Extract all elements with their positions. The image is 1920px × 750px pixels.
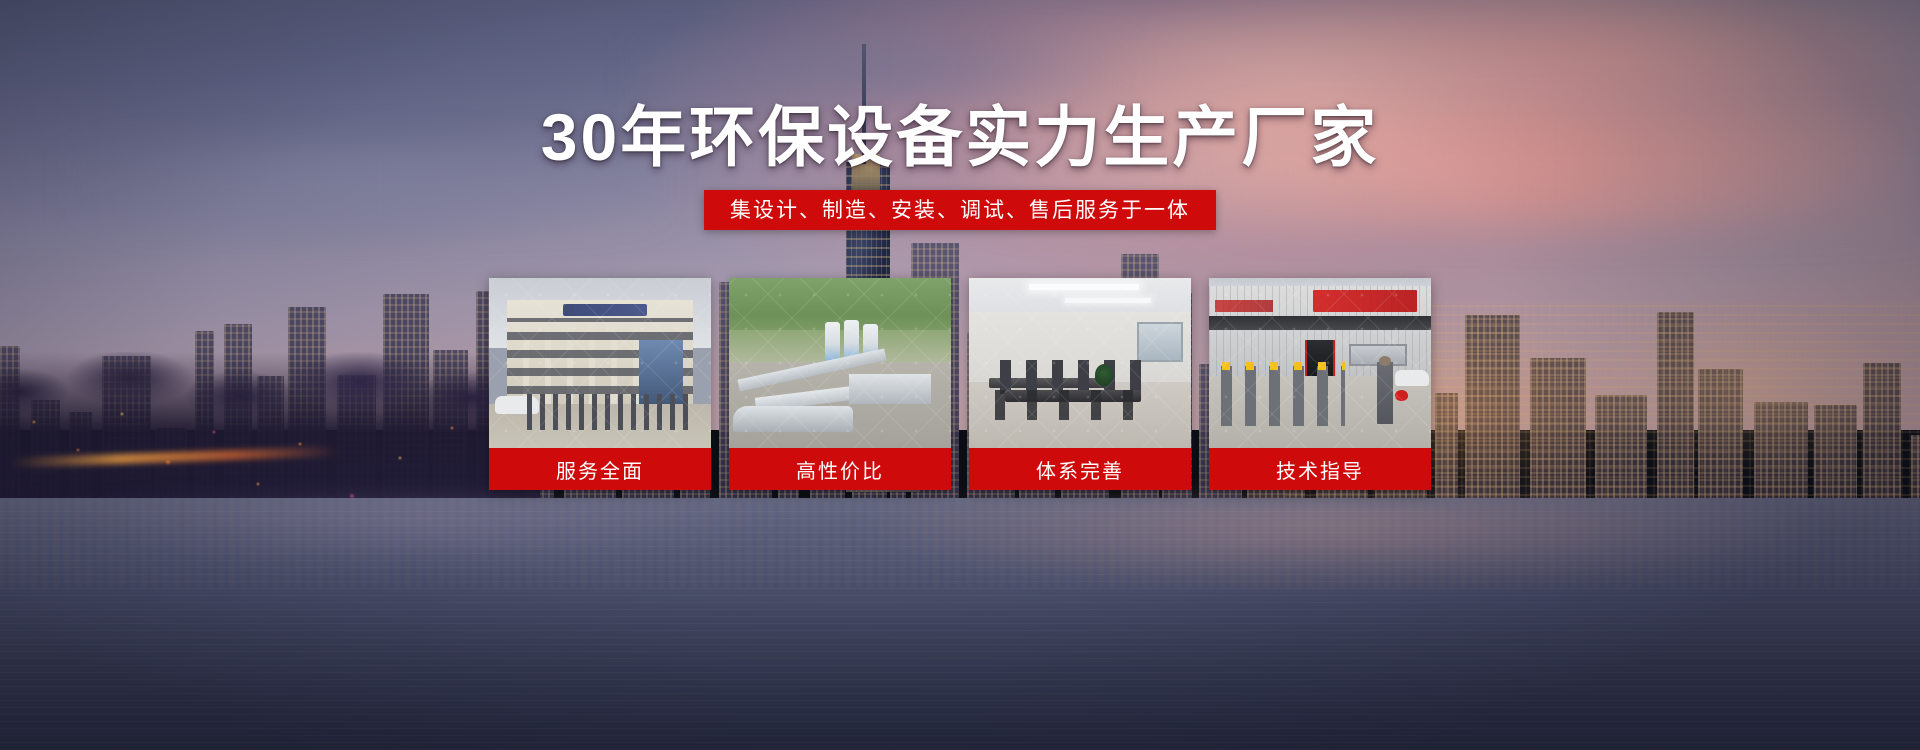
banner-subtitle-text: 集设计、制造、安装、调试、售后服务于一体 (730, 200, 1190, 221)
office-building-and-staff-photo (489, 278, 711, 448)
feature-card-caption: 技术指导 (1209, 448, 1431, 490)
feature-card-caption: 高性价比 (729, 448, 951, 490)
aerial-factory-plant-photo (729, 278, 951, 448)
banner-content: 30年环保设备实力生产厂家 集设计、制造、安装、调试、售后服务于一体 (0, 0, 1920, 750)
photo3-ceiling-light (1029, 284, 1139, 290)
photo3-potted-plant (1095, 364, 1113, 386)
photo4-instructor (1377, 362, 1393, 424)
feature-card[interactable]: 服务全面 (489, 278, 711, 490)
photo4-red-signage-small (1215, 300, 1273, 312)
photo2-warehouse (849, 374, 931, 404)
photo4-car (1395, 370, 1429, 386)
photo2-silo (825, 322, 840, 362)
feature-card-caption: 体系完善 (969, 448, 1191, 490)
workers-training-factory-photo (1209, 278, 1431, 448)
photo2-warehouse (733, 406, 853, 432)
photo4-yellow-hardhats (1215, 362, 1345, 370)
photo4-worker-line (1215, 366, 1345, 426)
feature-card-row: 服务全面 高性价比 (489, 278, 1431, 490)
photo1-company-signage (563, 304, 647, 316)
office-interior-meeting-photo (969, 278, 1191, 448)
photo4-red-helmet (1395, 390, 1408, 401)
banner-headline: 30年环保设备实力生产厂家 (0, 104, 1920, 170)
photo1-staff-line (523, 394, 693, 430)
feature-card[interactable]: 技术指导 (1209, 278, 1431, 490)
hero-banner: 30年环保设备实力生产厂家 集设计、制造、安装、调试、售后服务于一体 (0, 0, 1920, 750)
banner-subtitle-bar: 集设计、制造、安装、调试、售后服务于一体 (704, 190, 1216, 230)
photo3-ceiling-light (1065, 298, 1151, 303)
photo4-instructor-head (1379, 356, 1391, 366)
photo4-window-band (1209, 316, 1431, 330)
photo4-red-signage (1313, 290, 1417, 312)
photo3-employees (991, 360, 1147, 394)
feature-card[interactable]: 体系完善 (969, 278, 1191, 490)
feature-card-caption: 服务全面 (489, 448, 711, 490)
feature-card[interactable]: 高性价比 (729, 278, 951, 490)
photo3-chairs (983, 390, 1153, 420)
photo3-window (1137, 322, 1183, 362)
